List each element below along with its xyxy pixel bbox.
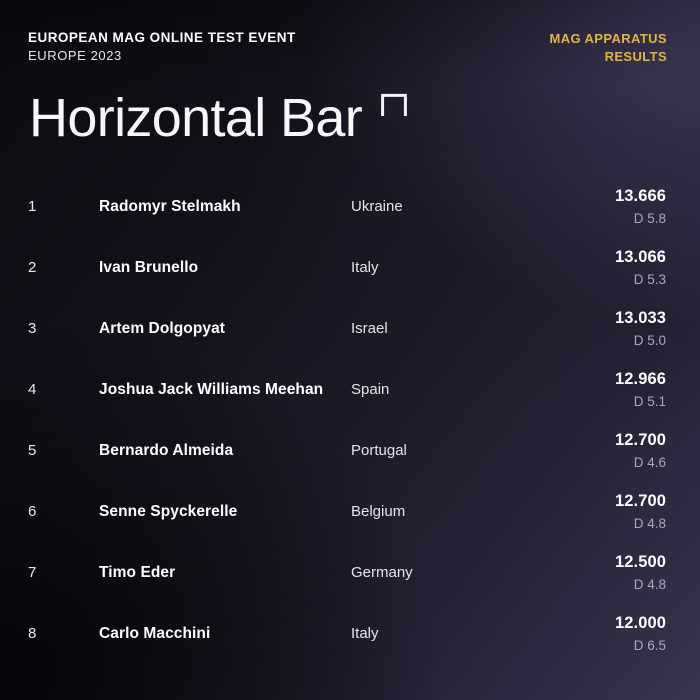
- result-score: 13.666: [615, 188, 666, 205]
- result-athlete: Artem Dolgopyat: [99, 321, 225, 337]
- result-rank: 8: [28, 626, 54, 641]
- results-label-line-1: MAG APPARATUS: [550, 30, 668, 48]
- result-rank: 3: [28, 321, 54, 336]
- result-rank: 2: [28, 260, 54, 275]
- result-rank: 4: [28, 382, 54, 397]
- event-header: EUROPEAN MAG ONLINE TEST EVENT EUROPE 20…: [28, 29, 296, 65]
- result-score: 12.966: [615, 371, 666, 388]
- result-rank: 1: [28, 199, 54, 214]
- apparatus-heading: Horizontal Bar: [29, 91, 408, 145]
- result-row: 8Carlo MacchiniItaly12.000D 6.5: [0, 603, 700, 664]
- result-country: Ukraine: [351, 199, 403, 214]
- result-country: Portugal: [351, 443, 407, 458]
- result-country: Germany: [351, 565, 413, 580]
- result-row: 2Ivan BrunelloItaly13.066D 5.3: [0, 237, 700, 298]
- result-athlete: Joshua Jack Williams Meehan: [99, 382, 323, 398]
- result-score: 12.700: [615, 493, 666, 510]
- result-athlete: Timo Eder: [99, 565, 175, 581]
- result-score: 13.066: [615, 249, 666, 266]
- result-score-block: 13.033D 5.0: [615, 310, 666, 348]
- result-athlete: Senne Spyckerelle: [99, 504, 237, 520]
- result-score-block: 12.700D 4.6: [615, 432, 666, 470]
- result-country: Italy: [351, 260, 379, 275]
- result-athlete: Bernardo Almeida: [99, 443, 233, 459]
- results-list: 1Radomyr StelmakhUkraine13.666D 5.82Ivan…: [0, 176, 700, 664]
- result-difficulty: D 4.6: [615, 456, 666, 470]
- result-difficulty: D 5.0: [615, 334, 666, 348]
- result-score-block: 13.666D 5.8: [615, 188, 666, 226]
- result-country: Spain: [351, 382, 389, 397]
- result-row: 3Artem DolgopyatIsrael13.033D 5.0: [0, 298, 700, 359]
- result-athlete: Carlo Macchini: [99, 626, 210, 642]
- result-row: 7Timo EderGermany12.500D 4.8: [0, 542, 700, 603]
- result-country: Belgium: [351, 504, 405, 519]
- result-rank: 7: [28, 565, 54, 580]
- result-score: 13.033: [615, 310, 666, 327]
- horizontal-bar-apparatus-icon: [380, 92, 408, 118]
- result-score-block: 12.700D 4.8: [615, 493, 666, 531]
- result-difficulty: D 6.5: [615, 639, 666, 653]
- result-difficulty: D 4.8: [615, 578, 666, 592]
- result-difficulty: D 4.8: [615, 517, 666, 531]
- result-score-block: 12.500D 4.8: [615, 554, 666, 592]
- result-row: 1Radomyr StelmakhUkraine13.666D 5.8: [0, 176, 700, 237]
- result-score-block: 13.066D 5.3: [615, 249, 666, 287]
- result-row: 4Joshua Jack Williams MeehanSpain12.966D…: [0, 359, 700, 420]
- event-title: EUROPEAN MAG ONLINE TEST EVENT: [28, 29, 296, 47]
- result-athlete: Radomyr Stelmakh: [99, 199, 241, 215]
- results-scoreboard: EUROPEAN MAG ONLINE TEST EVENT EUROPE 20…: [0, 0, 700, 700]
- event-edition: EUROPE 2023: [28, 47, 296, 65]
- result-difficulty: D 5.8: [615, 212, 666, 226]
- result-score: 12.700: [615, 432, 666, 449]
- result-score-block: 12.966D 5.1: [615, 371, 666, 409]
- result-row: 5Bernardo AlmeidaPortugal12.700D 4.6: [0, 420, 700, 481]
- result-athlete: Ivan Brunello: [99, 260, 198, 276]
- result-country: Israel: [351, 321, 388, 336]
- result-country: Italy: [351, 626, 379, 641]
- result-rank: 5: [28, 443, 54, 458]
- results-label: MAG APPARATUS RESULTS: [550, 30, 668, 66]
- result-score-block: 12.000D 6.5: [615, 615, 666, 653]
- result-score: 12.000: [615, 615, 666, 632]
- results-label-line-2: RESULTS: [550, 48, 668, 66]
- page-title: Horizontal Bar: [29, 91, 362, 145]
- result-difficulty: D 5.1: [615, 395, 666, 409]
- result-row: 6Senne SpyckerelleBelgium12.700D 4.8: [0, 481, 700, 542]
- result-difficulty: D 5.3: [615, 273, 666, 287]
- result-score: 12.500: [615, 554, 666, 571]
- result-rank: 6: [28, 504, 54, 519]
